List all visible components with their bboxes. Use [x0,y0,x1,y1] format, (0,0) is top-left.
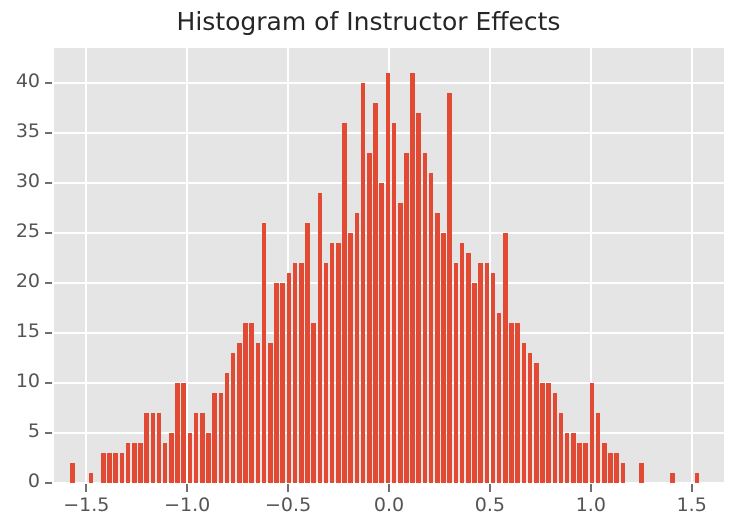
histogram-bar [386,73,391,483]
histogram-bar [188,433,193,483]
histogram-bar [163,443,168,483]
x-tick-label: −0.5 [248,494,328,516]
y-tick-mark [45,132,52,134]
histogram-bar [249,323,254,483]
histogram-bar [497,313,502,483]
histogram-figure: Histogram of Instructor Effects 05101520… [0,0,737,530]
histogram-bar [398,203,403,483]
histogram-bar [324,263,329,483]
x-tick-mark [590,484,592,492]
histogram-bar [379,183,384,483]
histogram-bar [447,93,452,483]
histogram-bar [596,413,601,483]
histogram-bar [280,283,285,483]
histogram-bar [509,323,514,483]
histogram-bar [113,453,118,483]
histogram-bar [454,263,459,483]
histogram-bar [132,443,137,483]
histogram-bar [361,83,366,483]
histogram-bar [107,453,112,483]
histogram-bar [466,253,471,483]
x-tick-label: 1.0 [551,494,631,516]
histogram-bar [256,343,261,483]
histogram-bar [101,453,106,483]
histogram-bars [54,48,724,483]
histogram-bar [670,473,675,483]
histogram-bar [404,153,409,483]
histogram-bar [212,393,217,483]
histogram-bar [268,343,273,483]
histogram-bar [70,463,75,483]
histogram-bar [503,233,508,483]
histogram-bar [485,263,490,483]
histogram-bar [194,413,199,483]
histogram-bar [243,323,248,483]
histogram-bar [590,383,595,483]
y-tick-label: 5 [0,420,40,442]
histogram-bar [169,433,174,483]
histogram-bar [231,353,236,483]
x-tick-label: −1.5 [46,494,126,516]
histogram-bar [200,413,205,483]
y-tick-mark [45,232,52,234]
x-tick-label: 1.5 [652,494,732,516]
histogram-bar [144,413,149,483]
histogram-bar [299,263,304,483]
x-tick-mark [388,484,390,492]
histogram-bar [138,443,143,483]
histogram-bar [478,263,483,483]
histogram-bar [695,473,700,483]
histogram-bar [528,353,533,483]
y-tick-label: 30 [0,170,40,192]
histogram-bar [336,243,341,483]
histogram-bar [429,173,434,483]
histogram-bar [571,433,576,483]
histogram-bar [410,73,415,483]
histogram-bar [126,443,131,483]
y-tick-mark [45,332,52,334]
histogram-bar [435,213,440,483]
y-tick-mark [45,282,52,284]
page-title: Histogram of Instructor Effects [0,7,737,36]
histogram-bar [206,433,211,483]
histogram-bar [342,123,347,483]
histogram-bar [373,103,378,483]
histogram-bar [330,243,335,483]
plot-area [54,48,724,483]
y-tick-label: 0 [0,470,40,492]
histogram-bar [553,393,558,483]
histogram-bar [367,153,372,483]
y-tick-label: 20 [0,270,40,292]
histogram-bar [237,343,242,483]
histogram-bar [157,413,162,483]
histogram-bar [181,383,186,483]
y-tick-mark [45,182,52,184]
histogram-bar [621,463,626,483]
x-tick-label: 0.5 [450,494,530,516]
histogram-bar [546,383,551,483]
histogram-bar [318,193,323,483]
x-tick-mark [186,484,188,492]
histogram-bar [219,393,224,483]
histogram-bar [151,413,156,483]
histogram-bar [583,443,588,483]
histogram-bar [639,463,644,483]
histogram-bar [175,383,180,483]
histogram-bar [577,443,582,483]
histogram-bar [89,473,94,483]
histogram-bar [559,413,564,483]
histogram-bar [225,373,230,483]
histogram-bar [540,383,545,483]
x-tick-mark [287,484,289,492]
histogram-bar [491,273,496,483]
y-tick-mark [45,382,52,384]
histogram-bar [515,323,520,483]
histogram-bar [274,283,279,483]
x-tick-mark [85,484,87,492]
y-tick-mark [45,432,52,434]
x-tick-label: −1.0 [147,494,227,516]
histogram-bar [441,233,446,483]
histogram-bar [460,243,465,483]
histogram-bar [392,123,397,483]
histogram-bar [423,153,428,483]
y-tick-label: 10 [0,370,40,392]
histogram-bar [565,433,570,483]
y-tick-label: 40 [0,70,40,92]
y-tick-label: 15 [0,320,40,342]
histogram-bar [522,343,527,483]
x-tick-mark [489,484,491,492]
histogram-bar [608,453,613,483]
y-tick-mark [45,482,52,484]
y-tick-mark [45,82,52,84]
histogram-bar [305,223,310,483]
y-tick-label: 35 [0,120,40,142]
histogram-bar [472,283,477,483]
histogram-bar [348,233,353,483]
histogram-bar [534,363,539,483]
histogram-bar [614,453,619,483]
y-tick-label: 25 [0,220,40,242]
histogram-bar [293,263,298,483]
histogram-bar [262,223,267,483]
x-tick-label: 0.0 [349,494,429,516]
histogram-bar [287,273,292,483]
x-tick-mark [691,484,693,492]
histogram-bar [602,443,607,483]
histogram-bar [311,323,316,483]
histogram-bar [416,113,421,483]
histogram-bar [355,213,360,483]
histogram-bar [120,453,125,483]
